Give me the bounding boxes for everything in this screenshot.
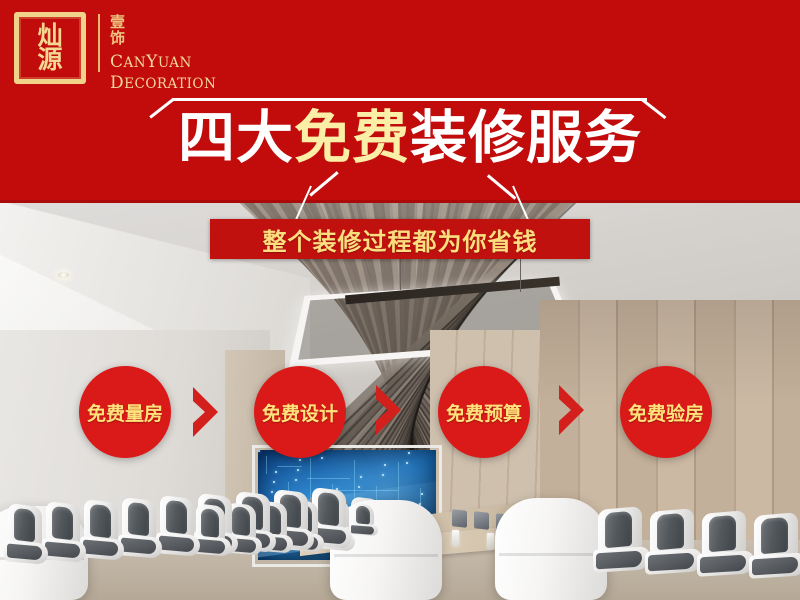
chair-seat-pad — [596, 551, 642, 570]
header-banner: 灿 源 壹 饰 CANYUAN DECORATION — [0, 0, 800, 203]
step-circle-free-inspection[interactable]: 免费验房 — [620, 366, 712, 458]
chair-back-pad — [232, 506, 250, 536]
chair-back-pad — [356, 505, 370, 524]
brand-rest-uan: UAN — [158, 55, 192, 71]
brand-mark-char-1: 壹 — [110, 14, 216, 30]
bracket-bottom-left-diagonal — [309, 171, 338, 196]
brand-cap-c: C — [110, 52, 124, 72]
glass — [487, 533, 494, 549]
chair-seat-pad — [351, 525, 374, 535]
brand-name-en-line2: DECORATION — [110, 73, 216, 93]
chair-back-pad — [761, 517, 788, 555]
bracket-top-line — [173, 98, 647, 101]
step-circle-free-budget[interactable]: 免费预算 — [438, 366, 530, 458]
subtitle-text: 整个装修过程都为你省钱 — [263, 222, 538, 257]
headline-part-3: 装修服务 — [410, 105, 642, 171]
monitor — [452, 509, 467, 528]
chair-back-pad — [318, 492, 339, 527]
step-label-free-design: 免费设计 — [262, 399, 338, 426]
chevron-right-icon — [373, 383, 407, 437]
chair-back-pad — [657, 513, 684, 551]
chevron-right-icon — [190, 385, 224, 439]
brand-logo[interactable]: 灿 源 壹 饰 CANYUAN DECORATION — [14, 12, 216, 93]
brand-cap-y: Y — [146, 52, 158, 72]
brand-cap-d: D — [110, 73, 124, 93]
chair-back-pad — [90, 504, 111, 539]
step-circle-free-measure[interactable]: 免费量房 — [79, 366, 171, 458]
headline-part-2: 免费 — [294, 105, 410, 171]
downlight-icon — [58, 272, 69, 278]
chair-back-pad — [709, 515, 736, 553]
chair-back-pad — [166, 500, 187, 535]
step-label-free-budget: 免费预算 — [446, 399, 522, 426]
headline-zone: 四大免费装修服务 — [150, 96, 670, 201]
step-circle-free-design[interactable]: 免费设计 — [254, 366, 346, 458]
step-label-free-measure: 免费量房 — [87, 399, 163, 426]
subtitle-ribbon: 整个装修过程都为你省钱 — [210, 219, 590, 259]
brand-mark-char-2: 饰 — [110, 30, 216, 46]
chair-back-pad — [52, 506, 73, 541]
glass — [452, 530, 459, 546]
brand-name-en-line1: CANYUAN — [110, 52, 216, 72]
foreground-chair — [495, 498, 607, 600]
promo-poster: 灿 源 壹 饰 CANYUAN DECORATION — [0, 0, 800, 600]
brand-wordmark: 壹 饰 CANYUAN DECORATION — [96, 12, 216, 93]
brand-mark-chars: 壹 饰 — [110, 14, 216, 46]
page-title: 四大免费装修服务 — [150, 110, 670, 167]
seal-char-bottom: 源 — [37, 48, 62, 73]
chair-seat-pad — [648, 553, 694, 572]
brand-rest-an: AN — [124, 55, 147, 71]
chevron-right-icon — [556, 383, 590, 437]
chair-back-pad — [605, 511, 632, 549]
chair-seat-pad — [700, 555, 746, 574]
step-label-free-inspection: 免费验房 — [628, 399, 704, 426]
headline-part-1: 四大 — [178, 105, 294, 171]
seal-stamp-icon: 灿 源 — [14, 12, 86, 84]
chair-back-pad — [128, 502, 149, 537]
chair-seat-pad — [752, 557, 798, 576]
chair-back-pad — [14, 508, 35, 543]
brand-rest-ecoration: ECORATION — [124, 76, 216, 92]
chair-back-pad — [201, 507, 219, 537]
monitor — [474, 511, 489, 530]
